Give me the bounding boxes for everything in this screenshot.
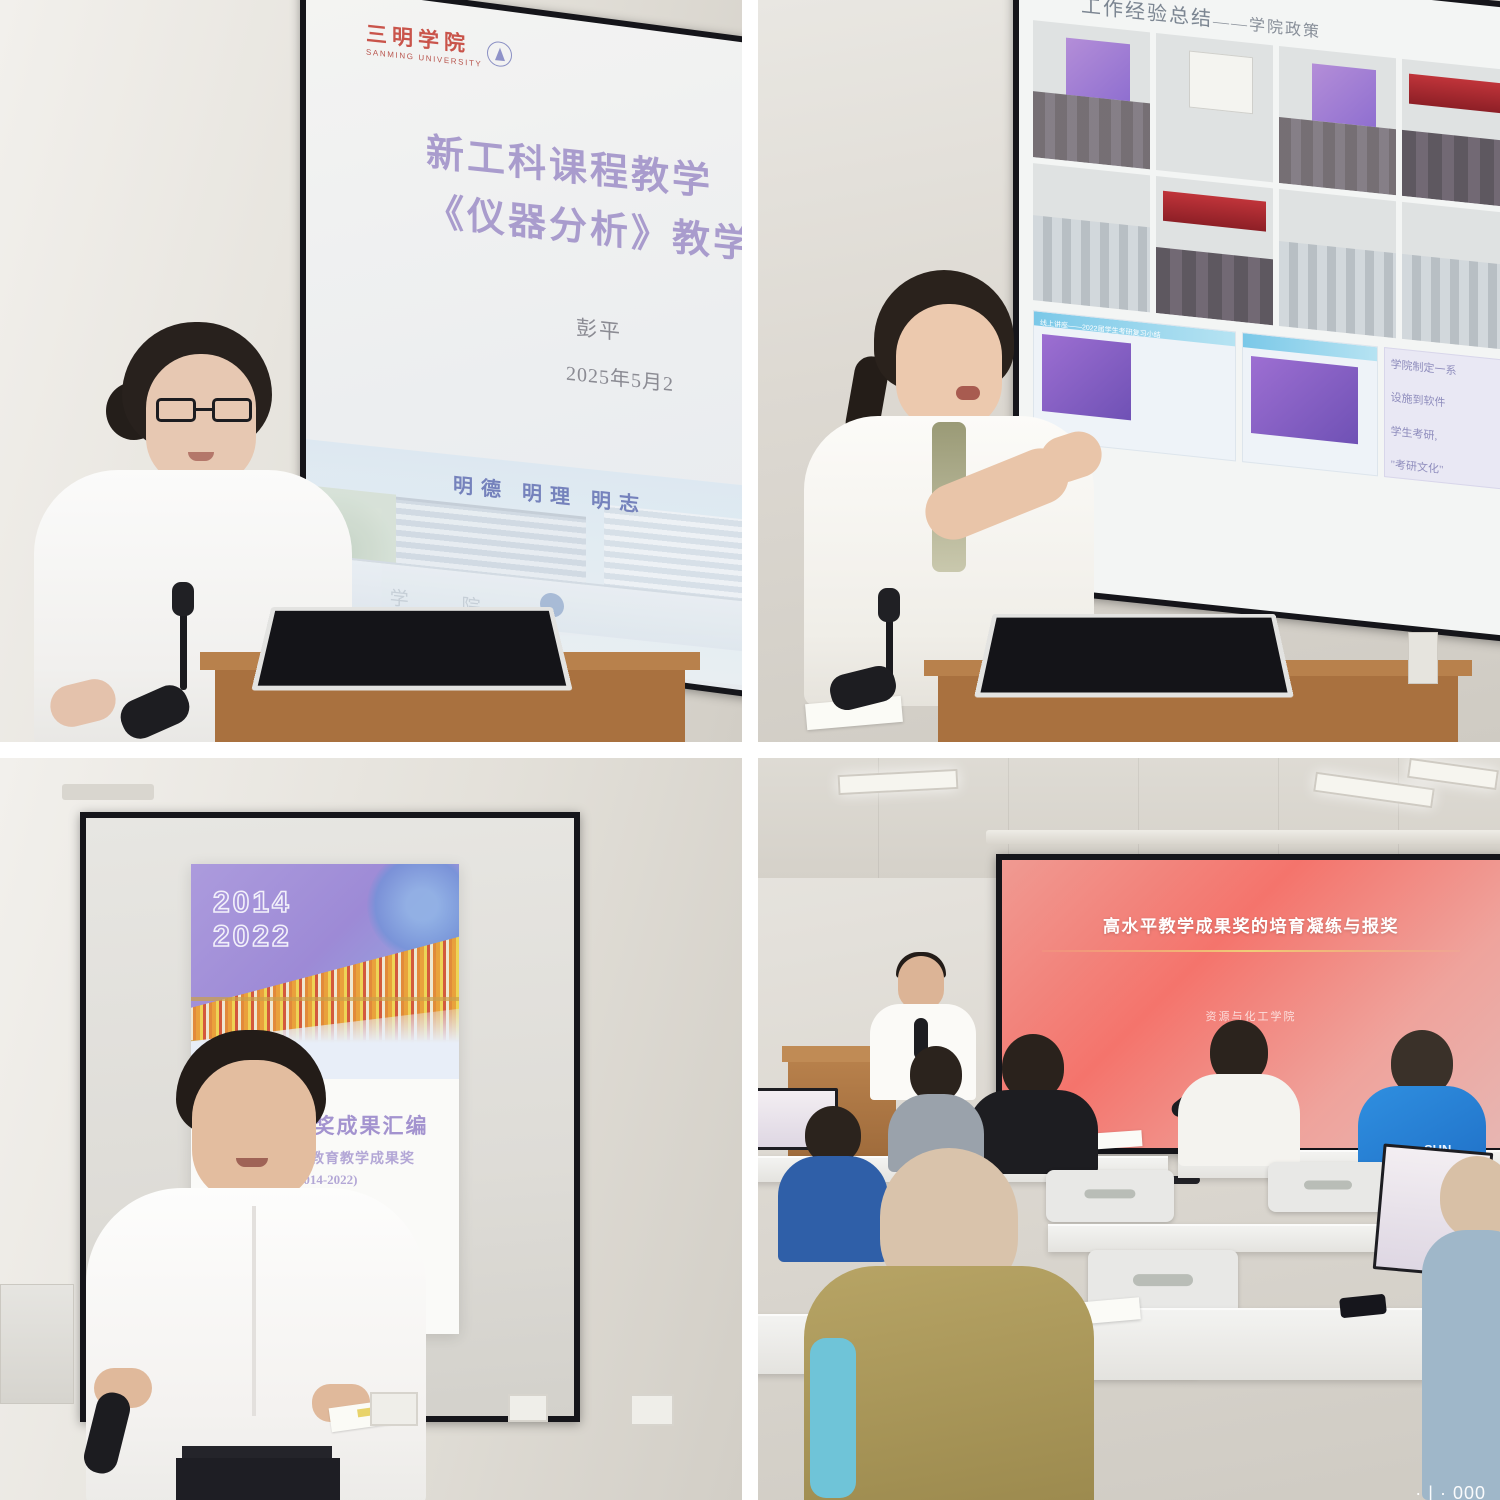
attendee-olive-vest: [804, 1148, 1094, 1500]
shirt-placket: [252, 1206, 256, 1416]
grid-photo: [1156, 176, 1273, 325]
eyeglasses-icon: [156, 398, 252, 422]
grid-photo: [1033, 20, 1150, 169]
photo-collage: 三明学院 SANMING UNIVERSITY 新工科课程教学 《仪器分析》教学…: [0, 0, 1500, 1500]
callout-textbox: 学院制定一系 设施到软件 学生考研, "考研文化": [1384, 347, 1500, 491]
panel-bottom-right: 高水平教学成果奖的培育凝练与报奖 资源与化工学院: [758, 758, 1500, 1500]
watermark: · | · 000: [1415, 1483, 1486, 1500]
head: [1440, 1156, 1500, 1238]
slide-date: 2025年5月2: [566, 357, 674, 397]
screenshot-card: [1242, 332, 1377, 476]
trousers: [176, 1458, 340, 1500]
face: [192, 1060, 316, 1202]
attendee-white-shirt: [1178, 1020, 1300, 1160]
slide-title: 三明学院 SANMING UNIVERSITY 新工科课程教学 《仪器分析》教学…: [306, 0, 742, 697]
cover-year-top: 2014: [213, 886, 292, 920]
panel-top-right: 工作经验总结——学院政策 线上讲座——2022届学生考研复习小结: [758, 0, 1500, 742]
mouth: [236, 1158, 268, 1167]
face: [896, 304, 1002, 430]
inner-shirt: [810, 1338, 856, 1498]
presenter-with-microphone: [86, 1030, 426, 1500]
university-logo: 三明学院 SANMING UNIVERSITY: [366, 24, 512, 72]
panel-bottom-left: 2014 2022 福建省获奖成果汇编 国家级高等教育教学成果奖 (2014-2…: [0, 758, 742, 1500]
panel-top-left: 三明学院 SANMING UNIVERSITY 新工科课程教学 《仪器分析》教学…: [0, 0, 742, 742]
chair: [1268, 1162, 1388, 1212]
screen-roller-box: [62, 784, 154, 800]
torso: [1422, 1230, 1500, 1500]
slide-divider: [1042, 950, 1460, 952]
face: [898, 956, 944, 1010]
lectern-monitor[interactable]: [974, 614, 1294, 697]
grid-photo: [1156, 33, 1273, 182]
wall-outlet: [630, 1394, 674, 1426]
slide-title-text: 新工科课程教学 《仪器分析》教学: [426, 124, 742, 287]
wall-outlet: [508, 1394, 548, 1422]
grid-photo: [1279, 189, 1396, 338]
torso: [1178, 1074, 1300, 1166]
grid-photo: [1402, 59, 1500, 208]
gooseneck-microphone-icon: [172, 582, 194, 616]
slide-heading-sub: ——学院政策: [1213, 13, 1321, 41]
grid-photo: [1402, 202, 1500, 351]
cover-year-bottom: 2022: [213, 920, 292, 954]
mouth: [956, 386, 980, 400]
attendee-black-polo: [968, 1034, 1098, 1164]
speaker-box: [0, 1284, 74, 1404]
slide-presenter: 彭平: [576, 312, 622, 347]
university-seal-icon: [487, 40, 512, 68]
cover-years: 2014 2022: [213, 886, 292, 953]
screen-roller-box: [986, 830, 1500, 844]
projection-screen: 三明学院 SANMING UNIVERSITY 新工科课程教学 《仪器分析》教学…: [300, 0, 742, 704]
lectern-monitor[interactable]: [251, 607, 572, 690]
attendee-light-blue: [1422, 1156, 1500, 1500]
desk: [1048, 1224, 1428, 1252]
slide-title-text: 高水平教学成果奖的培育凝练与报奖: [1002, 912, 1500, 937]
grid-photo: [1279, 46, 1396, 195]
wall-outlet: [1408, 632, 1438, 684]
wall-outlet: [370, 1392, 418, 1426]
gooseneck-microphone-icon: [878, 588, 900, 622]
